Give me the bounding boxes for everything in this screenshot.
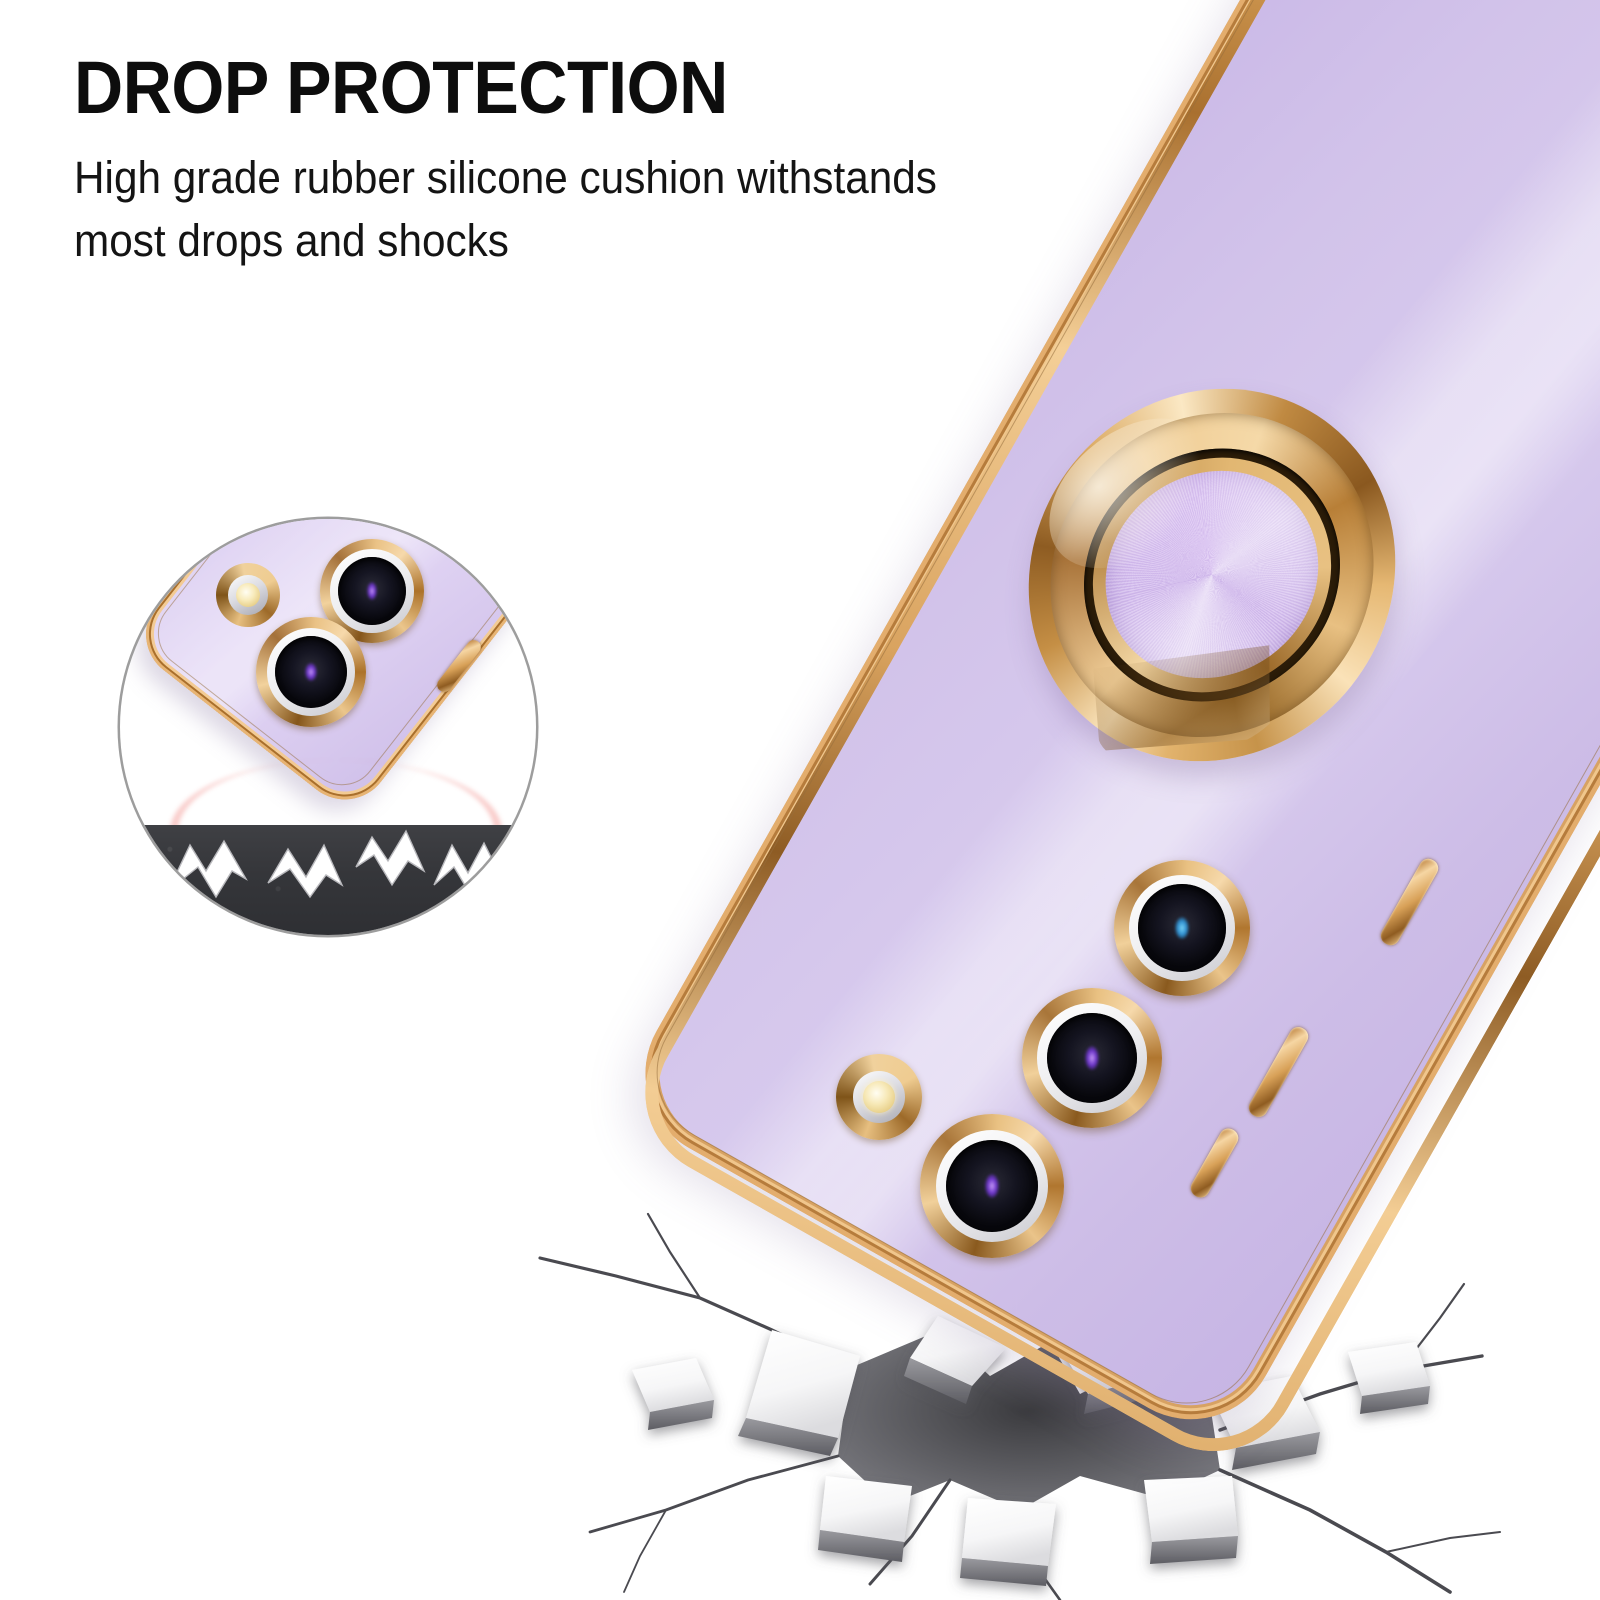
headline: DROP PROTECTION	[74, 48, 994, 128]
lens-glint-icon	[985, 1174, 1000, 1198]
inset-camera-lens-2	[256, 617, 366, 727]
camera-lens-1-glass	[1138, 884, 1225, 971]
inset-led-flash-icon	[216, 563, 280, 627]
subheadline: High grade rubber silicone cushion withs…	[74, 146, 1014, 272]
camera-lens-3	[920, 1114, 1064, 1258]
camera-lens-2	[1022, 988, 1162, 1128]
drop-impact-detail-inset	[120, 519, 536, 935]
inset-lens-1-glass	[338, 557, 407, 626]
camera-lens-1	[1114, 860, 1250, 996]
product-feature-image: DROP PROTECTION High grade rubber silico…	[0, 0, 1600, 1600]
lens-glint-icon	[1085, 1046, 1099, 1069]
lens-glint-icon	[1175, 917, 1189, 940]
camera-module	[836, 838, 1296, 1298]
inset-lens-2-glass	[275, 636, 348, 709]
camera-lens-3-glass	[946, 1140, 1038, 1232]
surface-chips	[120, 805, 536, 935]
led-flash-icon	[836, 1054, 922, 1140]
camera-lens-2-glass	[1047, 1013, 1137, 1103]
feature-text-block: DROP PROTECTION High grade rubber silico…	[74, 48, 1074, 272]
inset-camera-module	[216, 539, 446, 769]
lens-glint-icon	[305, 663, 317, 682]
lens-glint-icon	[367, 582, 378, 600]
